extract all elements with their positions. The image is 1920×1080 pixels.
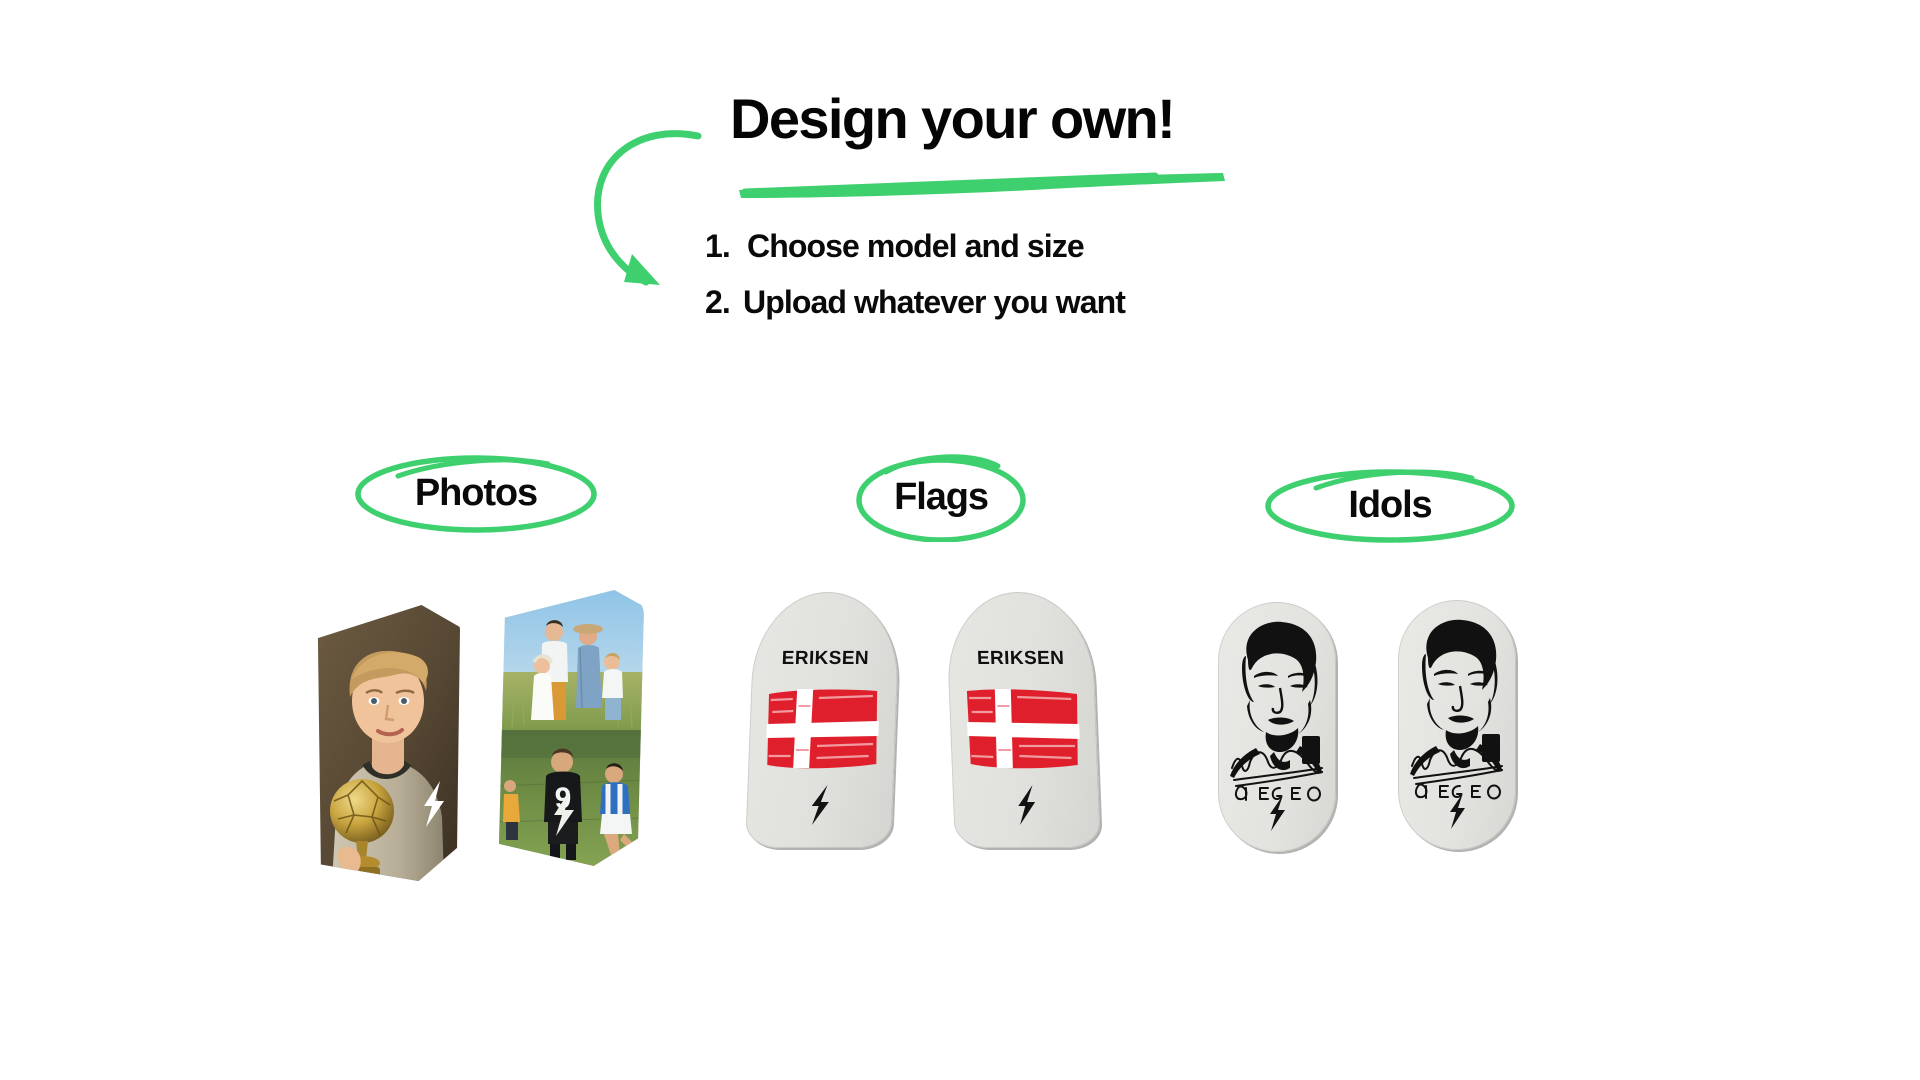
- product-card-photo-trophy[interactable]: [312, 605, 460, 881]
- lightning-bolt-icon: [548, 788, 578, 838]
- step-item: 2. Upload whatever you want: [705, 284, 1345, 321]
- category-label: Idols: [1262, 466, 1518, 544]
- page-root: Design your own! 1. Choose model and siz…: [0, 0, 1920, 1080]
- category-heading-flags[interactable]: Flags: [852, 452, 1030, 542]
- product-card-idol-right[interactable]: [1398, 600, 1516, 850]
- step-number: 2.: [705, 284, 743, 321]
- page-title-wrap: Design your own!: [730, 90, 1250, 149]
- maradona-portrait-stencil-icon: [1222, 616, 1332, 802]
- product-card-idol-left[interactable]: [1218, 602, 1336, 852]
- category-heading-idols[interactable]: Idols: [1262, 466, 1518, 544]
- category-label: Flags: [852, 452, 1030, 542]
- step-item: 1. Choose model and size: [705, 228, 1345, 265]
- product-card-flag-left[interactable]: ERIKSEN: [745, 592, 901, 848]
- lightning-bolt-icon: [1446, 792, 1468, 830]
- denmark-flag-brush-icon: [764, 686, 881, 772]
- lightning-bolt-icon: [418, 779, 448, 829]
- curved-arrow-icon: [588, 122, 718, 290]
- title-underline-brush: [735, 170, 1227, 200]
- lightning-bolt-icon: [1012, 784, 1040, 826]
- header: Design your own! 1. Choose model and siz…: [0, 0, 1920, 380]
- player-name-print: ERIKSEN: [947, 648, 1094, 670]
- lightning-bolt-icon: [1266, 794, 1288, 832]
- category-label: Photos: [352, 452, 600, 534]
- photo-boy-with-golden-ball: [312, 605, 460, 881]
- category-heading-photos[interactable]: Photos: [352, 452, 600, 534]
- lightning-bolt-icon: [806, 784, 834, 826]
- denmark-flag-brush-icon: [965, 686, 1082, 772]
- step-text: Upload whatever you want: [743, 284, 1125, 321]
- steps-list: 1. Choose model and size 2. Upload whate…: [705, 228, 1345, 340]
- product-card-flag-right[interactable]: ERIKSEN: [945, 592, 1101, 848]
- step-text: Choose model and size: [747, 228, 1084, 265]
- product-card-photo-collage[interactable]: 9: [496, 590, 644, 866]
- page-title: Design your own!: [730, 90, 1250, 149]
- maradona-portrait-stencil-icon: [1402, 614, 1512, 800]
- step-number: 1.: [705, 228, 747, 265]
- player-name-print: ERIKSEN: [752, 648, 899, 670]
